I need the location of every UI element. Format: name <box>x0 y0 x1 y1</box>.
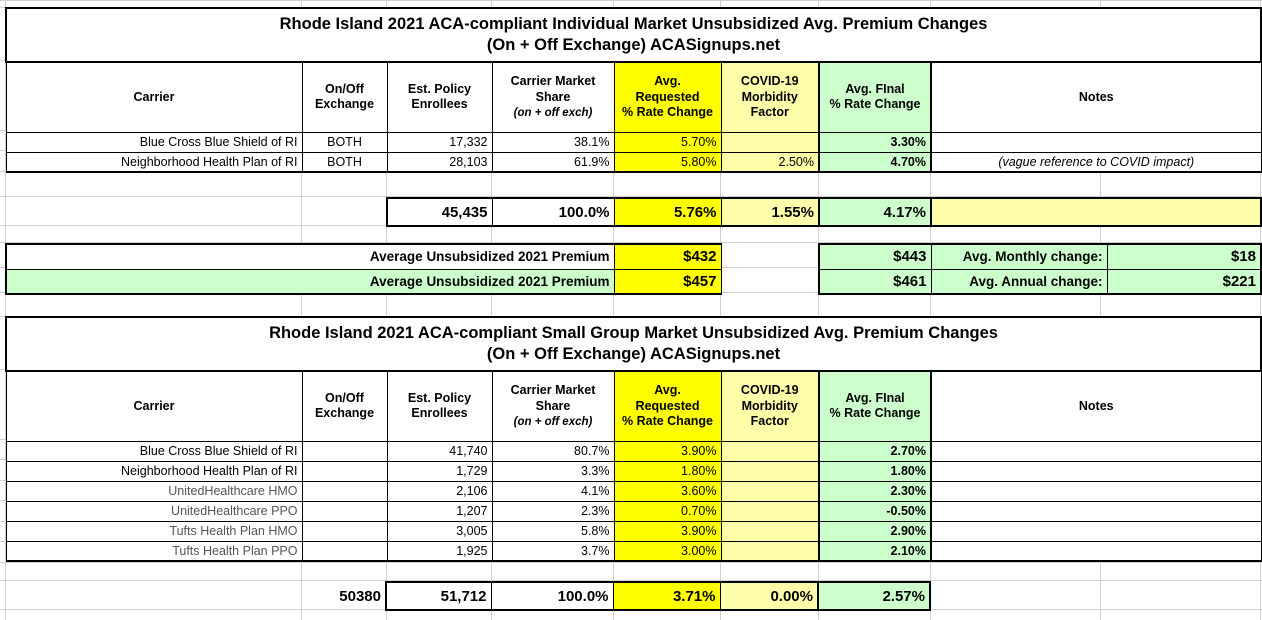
cell-covid <box>721 132 819 152</box>
cell-requested: 1.80% <box>614 461 721 481</box>
total-share: 100.0% <box>492 198 614 226</box>
cell-share: 5.8% <box>492 521 614 541</box>
header-carrier: Carrier <box>6 371 302 441</box>
small-group-title-line1: Rhode Island 2021 ACA-compliant Small Gr… <box>269 324 998 342</box>
total-enrollees: 45,435 <box>387 198 492 226</box>
premium-change-label: Avg. Annual change: <box>931 269 1107 294</box>
table-row: UnitedHealthcare PPO 1,207 2.3% 0.70% -0… <box>6 501 1261 521</box>
header-requested-line1: Avg. <box>654 383 681 397</box>
cell-carrier: UnitedHealthcare PPO <box>6 501 302 521</box>
cell-carrier: Blue Cross Blue Shield of RI <box>6 132 302 152</box>
individual-totals-table: 45,435 100.0% 5.76% 1.55% 4.17% <box>386 197 1262 227</box>
premium-row: Average Unsubsidized 2021 Premium $432 $… <box>6 244 1261 269</box>
cell-onoff <box>302 541 387 561</box>
premium-spacer <box>721 244 819 269</box>
header-notes: Notes <box>931 371 1261 441</box>
cell-requested: 3.90% <box>614 521 721 541</box>
cell-enrollees: 1,207 <box>387 501 492 521</box>
header-avg-requested: Avg. Requested % Rate Change <box>614 371 721 441</box>
individual-premium-summary-table: Average Unsubsidized 2021 Premium $432 $… <box>5 243 1262 295</box>
header-share-line2: Share <box>536 399 571 413</box>
total-notes <box>931 198 1261 226</box>
cell-final: -0.50% <box>819 501 931 521</box>
small-group-header-row: Carrier On/Off Exchange Est. Policy Enro… <box>6 371 1261 441</box>
header-carrier: Carrier <box>6 62 302 132</box>
header-onoff-line2: Exchange <box>315 406 374 420</box>
header-final-line2: % Rate Change <box>830 97 921 111</box>
cell-enrollees: 41,740 <box>387 441 492 461</box>
table-row: Blue Cross Blue Shield of RI BOTH 17,332… <box>6 132 1261 152</box>
header-market-share: Carrier Market Share (on + off exch) <box>492 371 614 441</box>
table-row: Tufts Health Plan PPO 1,925 3.7% 3.00% 2… <box>6 541 1261 561</box>
premium-change-label: Avg. Monthly change: <box>931 244 1107 269</box>
premium-final-value: $443 <box>819 244 931 269</box>
cell-notes <box>931 441 1261 461</box>
cell-share: 4.1% <box>492 481 614 501</box>
premium-spacer <box>721 269 819 294</box>
cell-enrollees: 2,106 <box>387 481 492 501</box>
cell-requested: 0.70% <box>614 501 721 521</box>
premium-requested-value: $457 <box>614 269 721 294</box>
cell-carrier: Neighborhood Health Plan of RI <box>6 152 302 172</box>
cell-carrier: Tufts Health Plan HMO <box>6 521 302 541</box>
individual-header-row: Carrier On/Off Exchange Est. Policy Enro… <box>6 62 1261 132</box>
header-share-sub: (on + off exch) <box>514 416 593 428</box>
cell-share: 3.3% <box>492 461 614 481</box>
total-covid: 0.00% <box>720 582 818 610</box>
cell-covid <box>721 501 819 521</box>
cell-notes <box>931 461 1261 481</box>
cell-carrier: Neighborhood Health Plan of RI <box>6 461 302 481</box>
header-covid-morbidity: COVID-19 Morbidity Factor <box>721 62 819 132</box>
premium-final-value: $461 <box>819 269 931 294</box>
header-avg-final: Avg. FInal % Rate Change <box>819 62 931 132</box>
premium-change-value: $18 <box>1107 244 1261 269</box>
premium-change-value: $221 <box>1107 269 1261 294</box>
cell-covid <box>721 481 819 501</box>
header-requested-line3: % Rate Change <box>622 105 713 119</box>
header-onoff-exchange: On/Off Exchange <box>302 371 387 441</box>
cell-enrollees: 1,925 <box>387 541 492 561</box>
cell-notes: (vague reference to COVID impact) <box>931 152 1261 172</box>
total-requested: 3.71% <box>613 582 720 610</box>
header-avg-requested: Avg. Requested % Rate Change <box>614 62 721 132</box>
header-onoff-exchange: On/Off Exchange <box>302 62 387 132</box>
table-row: Neighborhood Health Plan of RI 1,729 3.3… <box>6 461 1261 481</box>
total-final: 2.57% <box>818 582 930 610</box>
header-notes: Notes <box>931 62 1261 132</box>
cell-enrollees: 3,005 <box>387 521 492 541</box>
cell-onoff <box>302 481 387 501</box>
cell-share: 2.3% <box>492 501 614 521</box>
total-final: 4.17% <box>819 198 931 226</box>
cell-requested: 5.80% <box>614 152 721 172</box>
cell-covid <box>721 441 819 461</box>
total-enrollees: 51,712 <box>386 582 491 610</box>
individual-title-cell: Rhode Island 2021 ACA-compliant Individu… <box>6 8 1261 62</box>
cell-covid <box>721 521 819 541</box>
header-share-line2: Share <box>536 90 571 104</box>
small-group-title-cell: Rhode Island 2021 ACA-compliant Small Gr… <box>6 317 1261 371</box>
cell-onoff <box>302 441 387 461</box>
header-requested-line2: Requested <box>636 399 700 413</box>
small-group-totals-table: 50380 51,712 100.0% 3.71% 0.00% 2.57% <box>301 581 931 611</box>
header-final-line1: Avg. FInal <box>845 391 904 405</box>
total-covid: 1.55% <box>721 198 819 226</box>
header-covid-line3: Factor <box>751 414 789 428</box>
cell-share: 38.1% <box>492 132 614 152</box>
small-group-title-line2: (On + Off Exchange) ACASignups.net <box>487 345 780 363</box>
cell-notes <box>931 501 1261 521</box>
cell-notes <box>931 132 1261 152</box>
premium-requested-value: $432 <box>614 244 721 269</box>
cell-requested: 5.70% <box>614 132 721 152</box>
cell-share: 3.7% <box>492 541 614 561</box>
individual-title-line1: Rhode Island 2021 ACA-compliant Individu… <box>280 15 988 33</box>
cell-enrollees: 28,103 <box>387 152 492 172</box>
header-covid-line1: COVID-19 <box>741 74 799 88</box>
header-onoff-line2: Exchange <box>315 97 374 111</box>
cell-covid <box>721 541 819 561</box>
individual-title-row: Rhode Island 2021 ACA-compliant Individu… <box>6 8 1261 62</box>
cell-onoff <box>302 461 387 481</box>
table-row: Blue Cross Blue Shield of RI 41,740 80.7… <box>6 441 1261 461</box>
header-share-sub: (on + off exch) <box>514 107 593 119</box>
cell-share: 61.9% <box>492 152 614 172</box>
table-row: UnitedHealthcare HMO 2,106 4.1% 3.60% 2.… <box>6 481 1261 501</box>
header-enrollees-line2: Enrollees <box>411 97 467 111</box>
cell-notes <box>931 541 1261 561</box>
cell-carrier: UnitedHealthcare HMO <box>6 481 302 501</box>
header-avg-final: Avg. FInal % Rate Change <box>819 371 931 441</box>
header-onoff-line1: On/Off <box>325 82 364 96</box>
cell-notes <box>931 481 1261 501</box>
header-enrollees-line2: Enrollees <box>411 406 467 420</box>
cell-notes <box>931 521 1261 541</box>
total-requested: 5.76% <box>614 198 721 226</box>
cell-final: 2.70% <box>819 441 931 461</box>
header-covid-line1: COVID-19 <box>741 383 799 397</box>
header-requested-line2: Requested <box>636 90 700 104</box>
header-final-line1: Avg. FInal <box>845 82 904 96</box>
header-enrollees-line1: Est. Policy <box>408 82 471 96</box>
cell-share: 80.7% <box>492 441 614 461</box>
cell-final: 1.80% <box>819 461 931 481</box>
premium-label: Average Unsubsidized 2021 Premium <box>6 244 614 269</box>
individual-total-row: 45,435 100.0% 5.76% 1.55% 4.17% <box>387 198 1261 226</box>
cell-enrollees: 17,332 <box>387 132 492 152</box>
header-final-line2: % Rate Change <box>830 406 921 420</box>
cell-carrier: Blue Cross Blue Shield of RI <box>6 441 302 461</box>
table-row: Tufts Health Plan HMO 3,005 5.8% 3.90% 2… <box>6 521 1261 541</box>
total-onoff-note: 50380 <box>301 582 386 610</box>
header-requested-line3: % Rate Change <box>622 414 713 428</box>
cell-final: 4.70% <box>819 152 931 172</box>
cell-requested: 3.90% <box>614 441 721 461</box>
header-covid-line2: Morbidity <box>742 399 798 413</box>
cell-covid: 2.50% <box>721 152 819 172</box>
cell-carrier: Tufts Health Plan PPO <box>6 541 302 561</box>
individual-market-table: Rhode Island 2021 ACA-compliant Individu… <box>5 7 1262 173</box>
total-share: 100.0% <box>491 582 613 610</box>
header-share-line1: Carrier Market <box>511 74 596 88</box>
cell-final: 2.90% <box>819 521 931 541</box>
cell-onoff: BOTH <box>302 152 387 172</box>
cell-requested: 3.00% <box>614 541 721 561</box>
header-requested-line1: Avg. <box>654 74 681 88</box>
header-enrollees: Est. Policy Enrollees <box>387 62 492 132</box>
cell-enrollees: 1,729 <box>387 461 492 481</box>
small-group-total-row: 50380 51,712 100.0% 3.71% 0.00% 2.57% <box>301 582 930 610</box>
premium-label: Average Unsubsidized 2021 Premium <box>6 269 614 294</box>
header-enrollees: Est. Policy Enrollees <box>387 371 492 441</box>
individual-title-line2: (On + Off Exchange) ACASignups.net <box>487 36 780 54</box>
table-row: Neighborhood Health Plan of RI BOTH 28,1… <box>6 152 1261 172</box>
header-market-share: Carrier Market Share (on + off exch) <box>492 62 614 132</box>
small-group-title-row: Rhode Island 2021 ACA-compliant Small Gr… <box>6 317 1261 371</box>
premium-row: Average Unsubsidized 2021 Premium $457 $… <box>6 269 1261 294</box>
cell-final: 3.30% <box>819 132 931 152</box>
header-covid-line2: Morbidity <box>742 90 798 104</box>
header-share-line1: Carrier Market <box>511 383 596 397</box>
header-covid-morbidity: COVID-19 Morbidity Factor <box>721 371 819 441</box>
cell-requested: 3.60% <box>614 481 721 501</box>
cell-onoff <box>302 521 387 541</box>
cell-final: 2.10% <box>819 541 931 561</box>
cell-final: 2.30% <box>819 481 931 501</box>
header-covid-line3: Factor <box>751 105 789 119</box>
cell-onoff <box>302 501 387 521</box>
small-group-market-table: Rhode Island 2021 ACA-compliant Small Gr… <box>5 316 1262 562</box>
header-onoff-line1: On/Off <box>325 391 364 405</box>
header-enrollees-line1: Est. Policy <box>408 391 471 405</box>
cell-onoff: BOTH <box>302 132 387 152</box>
cell-covid <box>721 461 819 481</box>
